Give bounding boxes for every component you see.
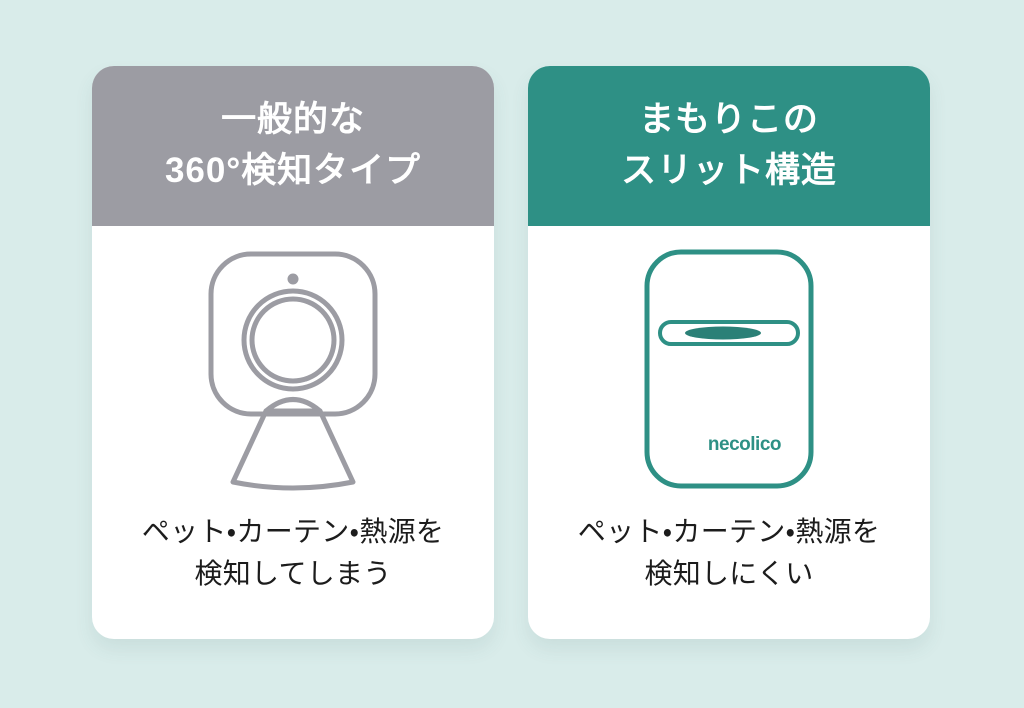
generic-camera-illustration	[92, 226, 494, 511]
led-dot-icon	[288, 273, 299, 284]
caption-line-1: ペット・カーテン・熱源を	[546, 511, 912, 553]
slit-sensor-device-icon: necolico	[629, 244, 829, 494]
card-title-line-1: まもりこの	[639, 97, 819, 144]
caption-line-2: 検知しにくい	[546, 553, 912, 595]
necolico-logo: necolico	[708, 434, 781, 455]
slit-sensor-illustration: necolico	[528, 226, 930, 511]
comparison-card-mamoriko: まもりこの スリット構造 necolico ペット・カーテン・熱源を 検知しにく…	[528, 66, 930, 639]
card-title-line-2: 360°検知タイプ	[165, 148, 421, 195]
comparison-graphic: 一般的な 360°検知タイプ	[0, 0, 1024, 708]
card-title-line-1: 一般的な	[221, 97, 365, 144]
card-caption-generic: ペット・カーテン・熱源を 検知してしまう	[92, 511, 494, 639]
comparison-card-generic: 一般的な 360°検知タイプ	[92, 66, 494, 639]
round-lens-camera-on-stand-icon	[178, 244, 408, 494]
caption-line-1: ペット・カーテン・熱源を	[110, 511, 476, 553]
caption-line-2: 検知してしまう	[110, 553, 476, 595]
card-header-generic: 一般的な 360°検知タイプ	[92, 66, 494, 226]
card-caption-mamoriko: ペット・カーテン・熱源を 検知しにくい	[528, 511, 930, 639]
card-header-mamoriko: まもりこの スリット構造	[528, 66, 930, 226]
slit-lens	[685, 326, 761, 339]
card-title-line-2: スリット構造	[621, 148, 837, 195]
